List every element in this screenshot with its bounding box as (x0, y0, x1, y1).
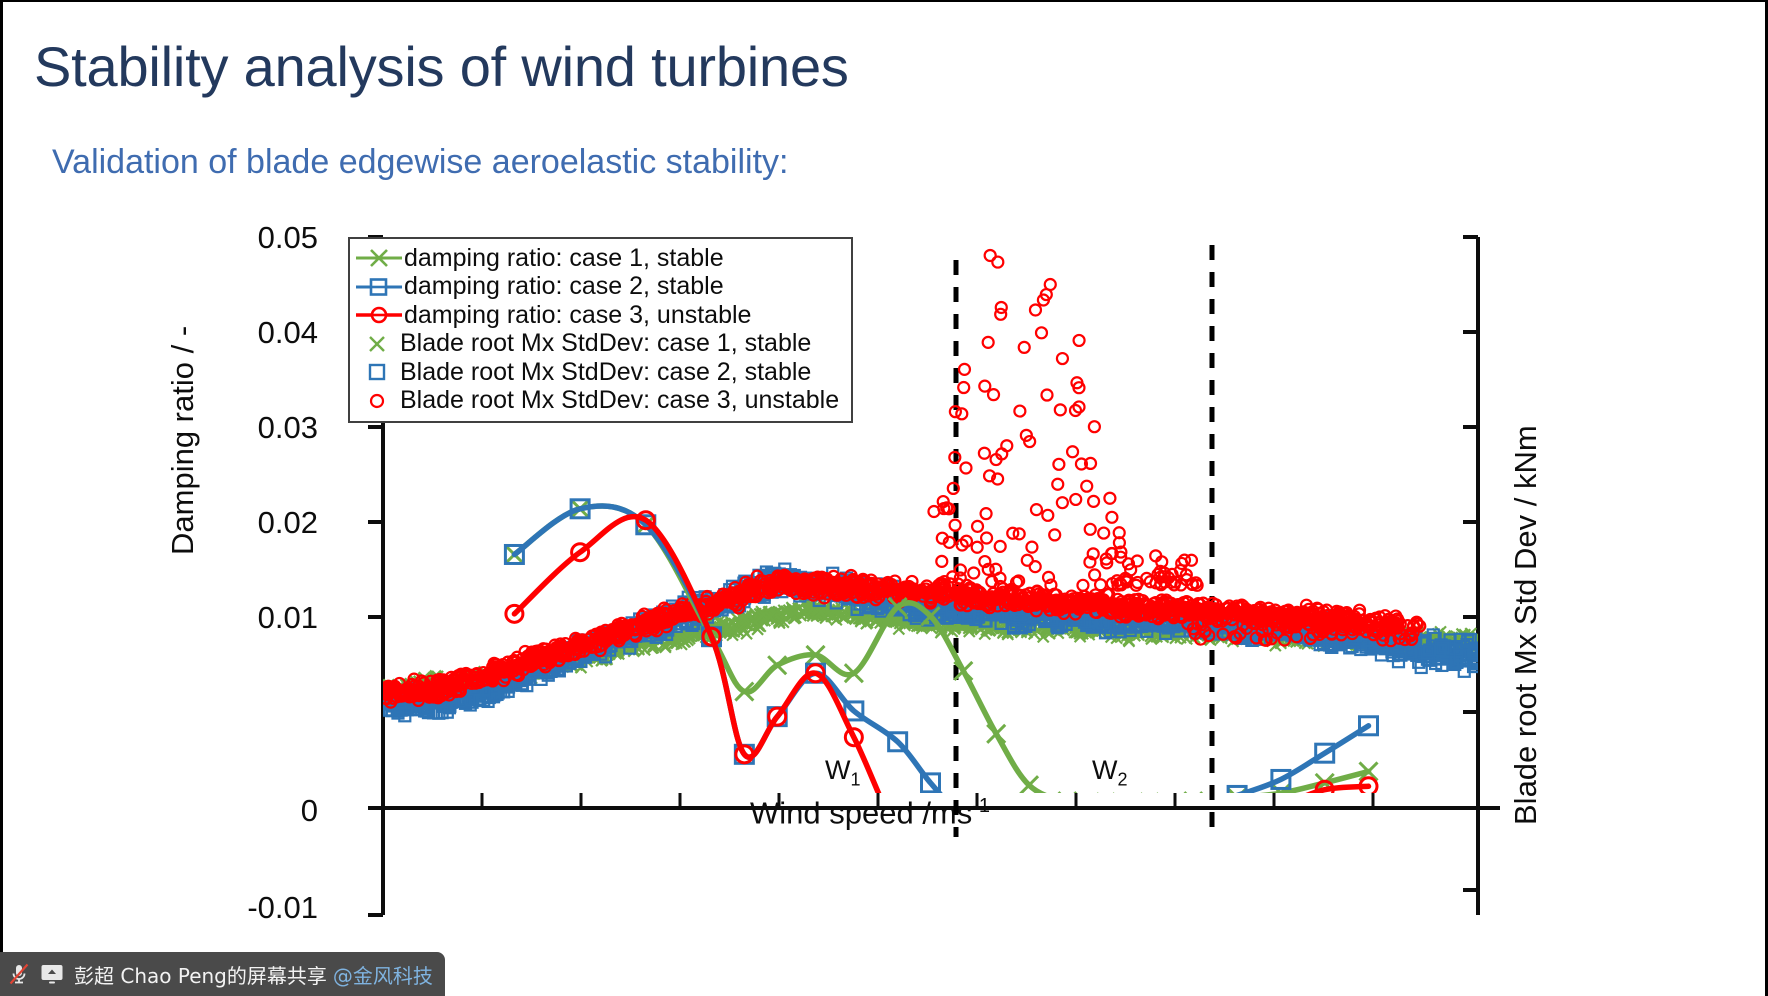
legend-label-4: Blade root Mx StdDev: case 2, stable (400, 360, 811, 385)
legend-label-1: damping ratio: case 2, stable (404, 274, 724, 299)
legend-item-3: Blade root Mx StdDev: case 1, stable (356, 330, 839, 359)
presentation-slide: Stability analysis of wind turbines Vali… (0, 0, 1768, 996)
y-axis-title-left: Damping ratio / - (165, 326, 201, 555)
legend-marker-circle-red (362, 389, 392, 413)
damping-curve-case1 (505, 500, 1377, 811)
legend-item-0: damping ratio: case 1, stable (356, 244, 839, 273)
legend-item-4: Blade root Mx StdDev: case 2, stable (356, 358, 839, 387)
screen-share-taskbar[interactable]: 彭超 Chao Peng的屏幕共享 @金风科技 (0, 952, 445, 996)
slide-subtitle: Validation of blade edgewise aeroelastic… (52, 143, 788, 182)
slide-border-left (0, 0, 3, 996)
legend-marker-square-blue (362, 360, 392, 384)
slide-border-top (0, 0, 1768, 2)
stability-chart: 0.05 0.04 0.03 0.02 0.01 0 -0.01 Damping… (250, 225, 1530, 940)
microphone-muted-icon[interactable] (8, 962, 30, 986)
legend-marker-x-green (362, 332, 392, 356)
x-axis-zero-line (383, 793, 1500, 808)
legend-label-5: Blade root Mx StdDev: case 3, unstable (400, 388, 839, 413)
damping-curve-case2 (505, 500, 1377, 840)
right-axis-spine (1463, 237, 1478, 915)
legend-item-1: damping ratio: case 2, stable (356, 273, 839, 302)
legend-label-2: damping ratio: case 3, unstable (404, 303, 751, 328)
damping-curve-case3 (506, 512, 1377, 894)
legend-label-3: Blade root Mx StdDev: case 1, stable (400, 331, 811, 356)
chart-legend: damping ratio: case 1, stable damping ra… (348, 237, 853, 423)
legend-label-0: damping ratio: case 1, stable (404, 246, 724, 271)
legend-marker-circle-line-red (356, 303, 402, 327)
share-org-label: @金风科技 (333, 960, 433, 989)
legend-item-2: damping ratio: case 3, unstable (356, 301, 839, 330)
legend-marker-x-line-green (356, 246, 402, 270)
page-title: Stability analysis of wind turbines (34, 34, 849, 99)
screen-share-icon[interactable] (40, 963, 64, 985)
share-owner-label: 彭超 Chao Peng的屏幕共享 (74, 960, 327, 989)
legend-marker-square-line-blue (356, 275, 402, 299)
legend-item-5: Blade root Mx StdDev: case 3, unstable (356, 387, 839, 416)
